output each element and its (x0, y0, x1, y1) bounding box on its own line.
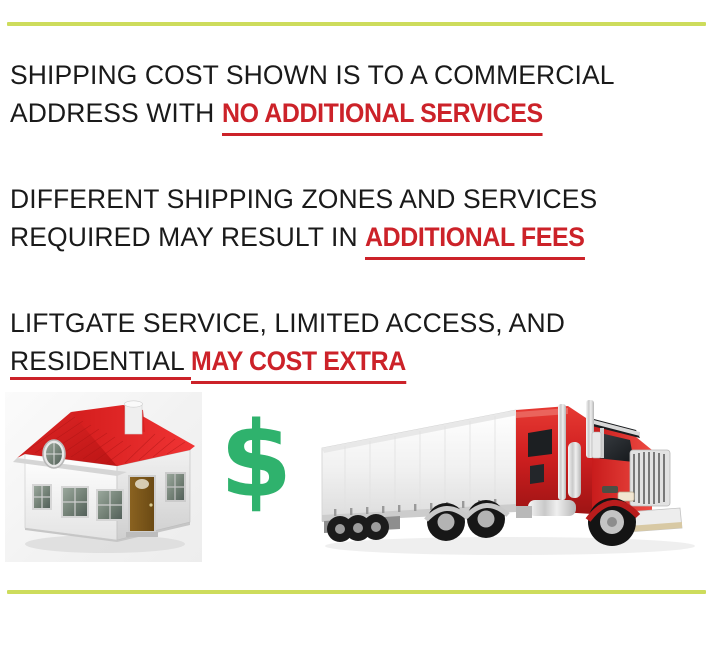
notice-line-1: DIFFERENT SHIPPING ZONES AND SERVICES (10, 180, 712, 218)
top-divider-rule (7, 22, 706, 26)
media-strip: $ (0, 388, 722, 566)
notice-liftgate-residential: LIFTGATE SERVICE, LIMITED ACCESS, AND RE… (10, 304, 712, 384)
truck-photo (300, 388, 700, 566)
semi-truck-illustration (300, 388, 700, 566)
notice-commercial-address: SHIPPING COST SHOWN IS TO A COMMERCIAL A… (10, 56, 712, 136)
notice-highlight-no-additional-services: NO ADDITIONAL SERVICES (222, 94, 543, 136)
notice-line-2-prefix: ADDRESS WITH (10, 98, 222, 128)
notice-line-2-prefix: RESIDENTIAL (10, 346, 191, 380)
notice-line-2: REQUIRED MAY RESULT IN ADDITIONAL FEES (10, 218, 712, 260)
dollar-sign-icon: $ (214, 408, 298, 512)
notice-line-1: LIFTGATE SERVICE, LIMITED ACCESS, AND (10, 304, 712, 342)
notice-line-2: RESIDENTIAL MAY COST EXTRA (10, 342, 712, 384)
notice-line-2-prefix: REQUIRED MAY RESULT IN (10, 222, 365, 252)
notice-shipping-zones: DIFFERENT SHIPPING ZONES AND SERVICES RE… (10, 180, 712, 260)
notice-line-1: SHIPPING COST SHOWN IS TO A COMMERCIAL (10, 56, 712, 94)
notice-line-2: ADDRESS WITH NO ADDITIONAL SERVICES (10, 94, 712, 136)
house-illustration (5, 392, 202, 562)
shipping-notice-graphic: SHIPPING COST SHOWN IS TO A COMMERCIAL A… (0, 0, 722, 646)
bottom-divider-rule (7, 590, 706, 594)
notice-highlight-additional-fees: ADDITIONAL FEES (365, 218, 584, 260)
notice-highlight-may-cost-extra: MAY COST EXTRA (191, 342, 406, 384)
house-photo (5, 392, 202, 562)
